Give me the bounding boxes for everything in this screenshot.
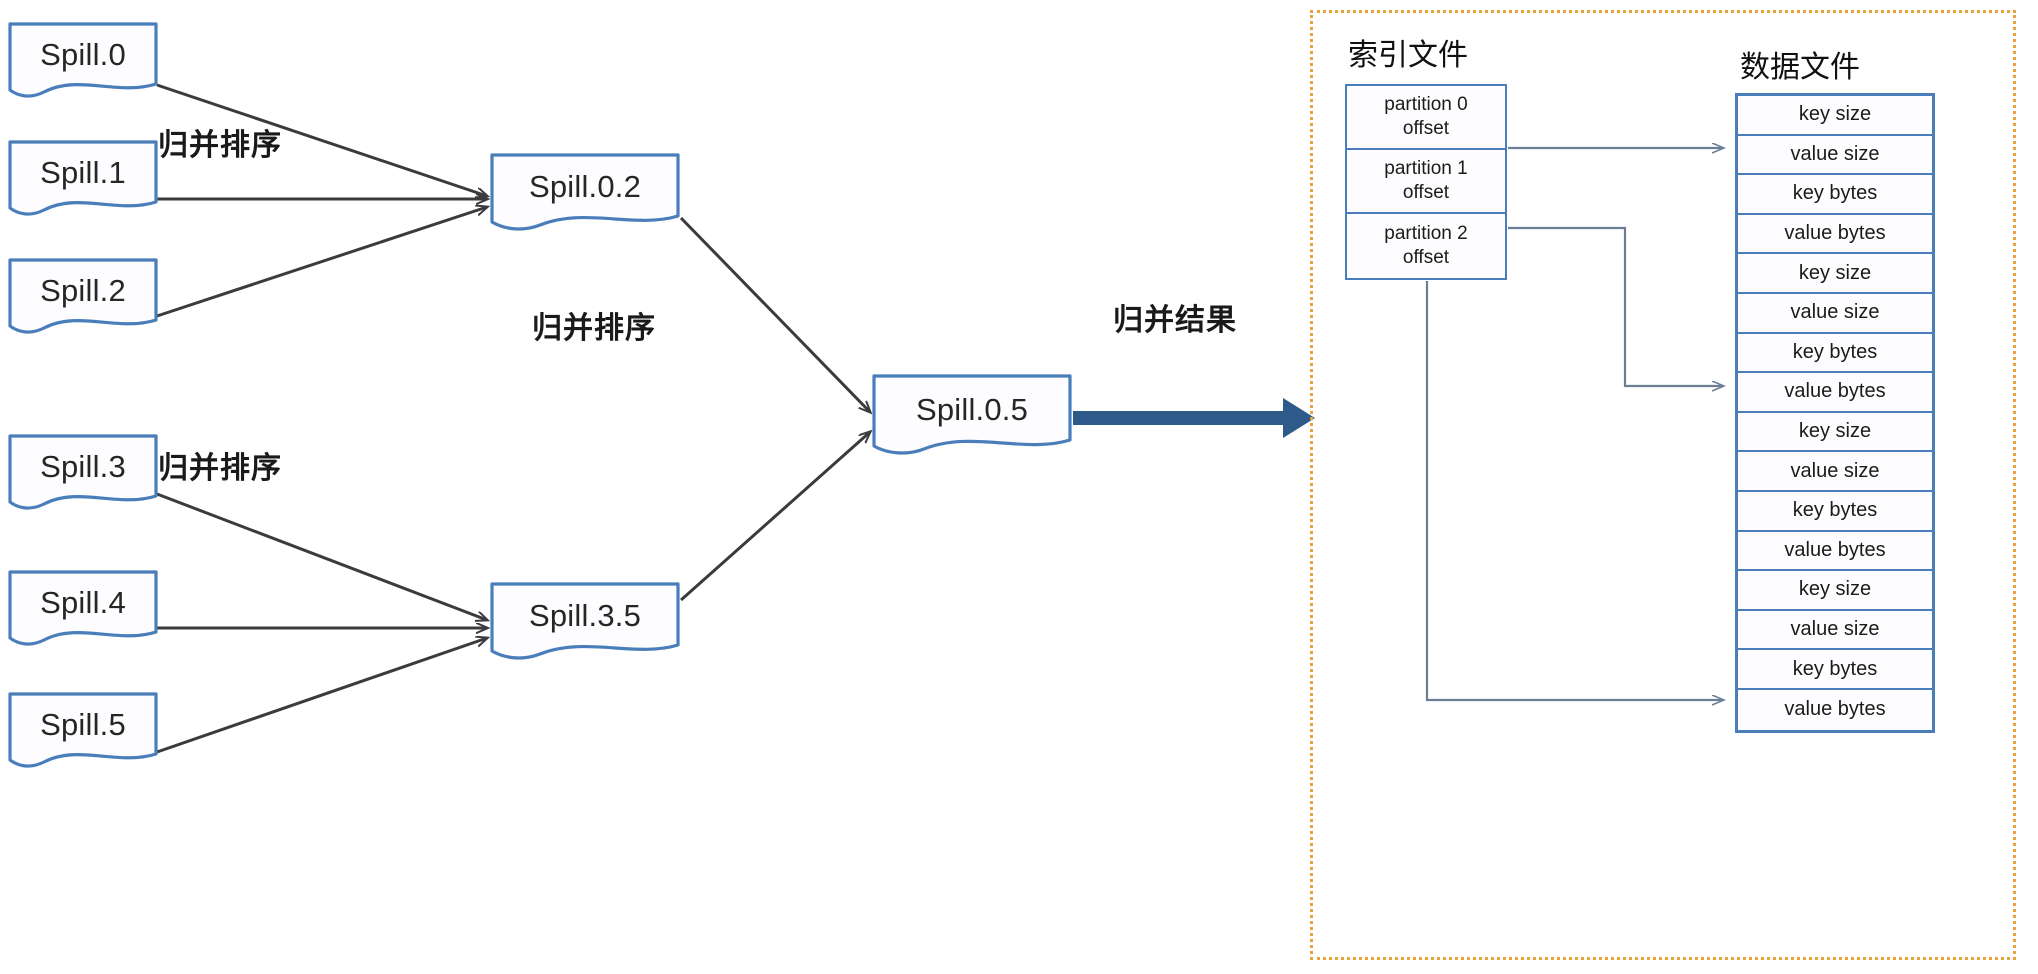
- data-row[interactable]: key bytes: [1738, 175, 1932, 215]
- edge-label-merge-result: 归并结果: [1113, 295, 1237, 339]
- merged-spill-label: Spill.3.5: [529, 598, 641, 634]
- data-row[interactable]: value bytes: [1738, 373, 1932, 413]
- spill-box-label: Spill.3: [40, 449, 126, 485]
- index-row-line1: partition 0: [1384, 93, 1467, 117]
- spill-box-1[interactable]: Spill.1: [8, 140, 158, 220]
- final-spill-box-0-5[interactable]: Spill.0.5: [872, 374, 1072, 460]
- spill-box-label: Spill.2: [40, 273, 126, 309]
- data-file-table: key size value size key bytes value byte…: [1735, 93, 1935, 733]
- edge-spill3-to-spill35: [157, 494, 487, 620]
- spill-box-5[interactable]: Spill.5: [8, 692, 158, 772]
- data-row[interactable]: key size: [1738, 413, 1932, 453]
- data-row[interactable]: key size: [1738, 254, 1932, 294]
- spill-box-4[interactable]: Spill.4: [8, 570, 158, 650]
- data-row[interactable]: key bytes: [1738, 334, 1932, 374]
- final-spill-label: Spill.0.5: [916, 392, 1028, 428]
- edge-spill02-to-spill05: [681, 218, 870, 412]
- data-row[interactable]: key bytes: [1738, 492, 1932, 532]
- merged-spill-box-0-2[interactable]: Spill.0.2: [490, 153, 680, 235]
- data-row[interactable]: value bytes: [1738, 215, 1932, 255]
- merged-spill-label: Spill.0.2: [529, 169, 641, 205]
- index-row-partition-2[interactable]: partition 2 offset: [1347, 214, 1505, 278]
- edge-merge-result-arrow: [1073, 398, 1315, 438]
- merged-spill-box-3-5[interactable]: Spill.3.5: [490, 582, 680, 664]
- index-file-title: 索引文件: [1348, 30, 1468, 74]
- index-file-table: partition 0 offset partition 1 offset pa…: [1345, 84, 1507, 280]
- spill-box-label: Spill.5: [40, 707, 126, 743]
- data-row[interactable]: value size: [1738, 611, 1932, 651]
- index-row-partition-0[interactable]: partition 0 offset: [1347, 86, 1505, 150]
- edge-label-merge-sort-bottom: 归并排序: [158, 443, 282, 487]
- data-row[interactable]: key size: [1738, 571, 1932, 611]
- data-row[interactable]: value bytes: [1738, 532, 1932, 572]
- data-row[interactable]: value size: [1738, 294, 1932, 334]
- edge-spill5-to-spill35: [157, 638, 487, 752]
- spill-box-label: Spill.0: [40, 37, 126, 73]
- edge-spill2-to-spill02: [157, 207, 487, 316]
- data-row[interactable]: value size: [1738, 452, 1932, 492]
- spill-box-0[interactable]: Spill.0: [8, 22, 158, 102]
- data-row[interactable]: value bytes: [1738, 690, 1932, 730]
- data-row[interactable]: key size: [1738, 96, 1932, 136]
- spill-box-2[interactable]: Spill.2: [8, 258, 158, 338]
- data-row[interactable]: key bytes: [1738, 650, 1932, 690]
- index-row-line2: offset: [1403, 117, 1449, 141]
- edge-label-merge-sort-final: 归并排序: [532, 303, 656, 347]
- index-row-line1: partition 2: [1384, 222, 1467, 246]
- index-row-line1: partition 1: [1384, 157, 1467, 181]
- index-row-partition-1[interactable]: partition 1 offset: [1347, 150, 1505, 214]
- spill-box-3[interactable]: Spill.3: [8, 434, 158, 514]
- edge-label-merge-sort-top: 归并排序: [158, 120, 282, 164]
- index-row-line2: offset: [1403, 181, 1449, 205]
- data-row[interactable]: value size: [1738, 136, 1932, 176]
- index-row-line2: offset: [1403, 246, 1449, 270]
- data-file-title: 数据文件: [1740, 42, 1860, 86]
- spill-box-label: Spill.4: [40, 585, 126, 621]
- edge-spill35-to-spill05: [681, 432, 870, 600]
- spill-box-label: Spill.1: [40, 155, 126, 191]
- diagram-canvas: Spill.0 Spill.1 Spill.2 Spill.3 Spill.4 …: [0, 0, 2038, 974]
